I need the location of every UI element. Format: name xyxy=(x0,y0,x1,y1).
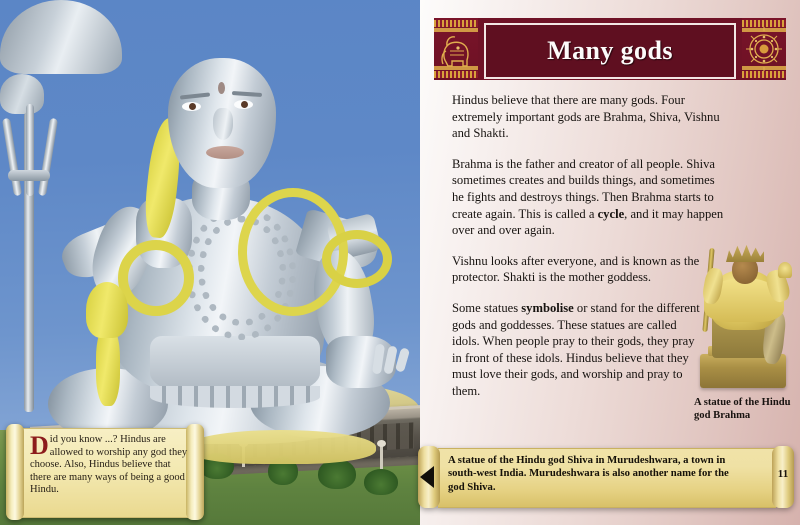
page-title-text: Many gods xyxy=(547,36,673,66)
brahma-caption-text: A statue of the Hindu god Brahma xyxy=(694,396,794,422)
elephant-motif-icon xyxy=(434,18,478,80)
did-you-know-text-block: Did you know ...? Hindus are allowed to … xyxy=(30,434,190,497)
scroll-caption-text: A statue of the Hindu god Shiva in Murud… xyxy=(448,454,744,494)
trident-crossbar xyxy=(8,170,50,181)
brahma-ladle xyxy=(778,262,792,278)
snake-coil-left xyxy=(118,240,194,316)
left-triangle-icon[interactable] xyxy=(420,466,434,488)
page-header-band: Many gods xyxy=(434,18,786,80)
statue-hair xyxy=(0,0,122,74)
motif-stripe xyxy=(742,28,786,32)
emphasis-term: cycle xyxy=(598,207,625,221)
page-number: 11 xyxy=(770,468,796,480)
brahma-crown xyxy=(726,244,764,262)
motif-stripe xyxy=(742,20,786,27)
page-title: Many gods xyxy=(484,23,736,79)
paragraph-4: Some statues symbolise or stand for the … xyxy=(452,300,700,400)
statue-skirt xyxy=(150,336,320,398)
paragraph-1: Hindus believe that there are many gods.… xyxy=(452,92,724,142)
trident-prong-right xyxy=(38,118,58,196)
main-photo-shiva-statue: Did you know ...? Hindus are allowed to … xyxy=(0,0,420,525)
tilak-mark xyxy=(218,82,225,94)
cobra-body xyxy=(96,326,120,406)
did-you-know-text: id you know ...? Hindus are allowed to w… xyxy=(30,434,187,495)
motif-stripe xyxy=(434,71,478,78)
did-you-know-scroll: Did you know ...? Hindus are allowed to … xyxy=(6,424,204,520)
emphasis-term: symbolise xyxy=(521,301,573,315)
bottom-caption-scroll: A statue of the Hindu god Shiva in Murud… xyxy=(418,446,794,508)
brahma-statue-photo xyxy=(694,228,792,388)
flower-garland xyxy=(186,430,376,464)
paragraph-2: Brahma is the father and creator of all … xyxy=(452,156,724,239)
body-copy: Hindus believe that there are many gods.… xyxy=(452,92,724,414)
motif-stripe xyxy=(434,66,478,70)
statue-lips xyxy=(206,146,244,159)
trident-prong-middle xyxy=(26,104,34,196)
book-spread: Did you know ...? Hindus are allowed to … xyxy=(0,0,800,525)
scroll-roll-left xyxy=(418,446,440,508)
trident-prong-left xyxy=(2,118,22,196)
sun-mandala-motif-icon xyxy=(742,18,786,80)
statue-nose xyxy=(213,108,233,140)
motif-stripe xyxy=(434,20,478,27)
statue-finger xyxy=(395,347,410,373)
cobra-hood xyxy=(86,282,128,338)
motif-stripe xyxy=(742,71,786,78)
eye-right xyxy=(234,100,253,109)
shiva-statue xyxy=(0,0,420,470)
motif-stripe xyxy=(742,66,786,70)
snake-coil-right xyxy=(322,230,392,288)
eye-left xyxy=(182,102,201,111)
statue-topknot xyxy=(0,74,44,114)
paragraph-3: Vishnu looks after everyone, and is know… xyxy=(452,253,700,286)
dropcap-letter: D xyxy=(30,435,50,456)
bush xyxy=(364,469,398,495)
motif-stripe xyxy=(434,28,478,32)
scroll-roll-left xyxy=(6,424,24,520)
